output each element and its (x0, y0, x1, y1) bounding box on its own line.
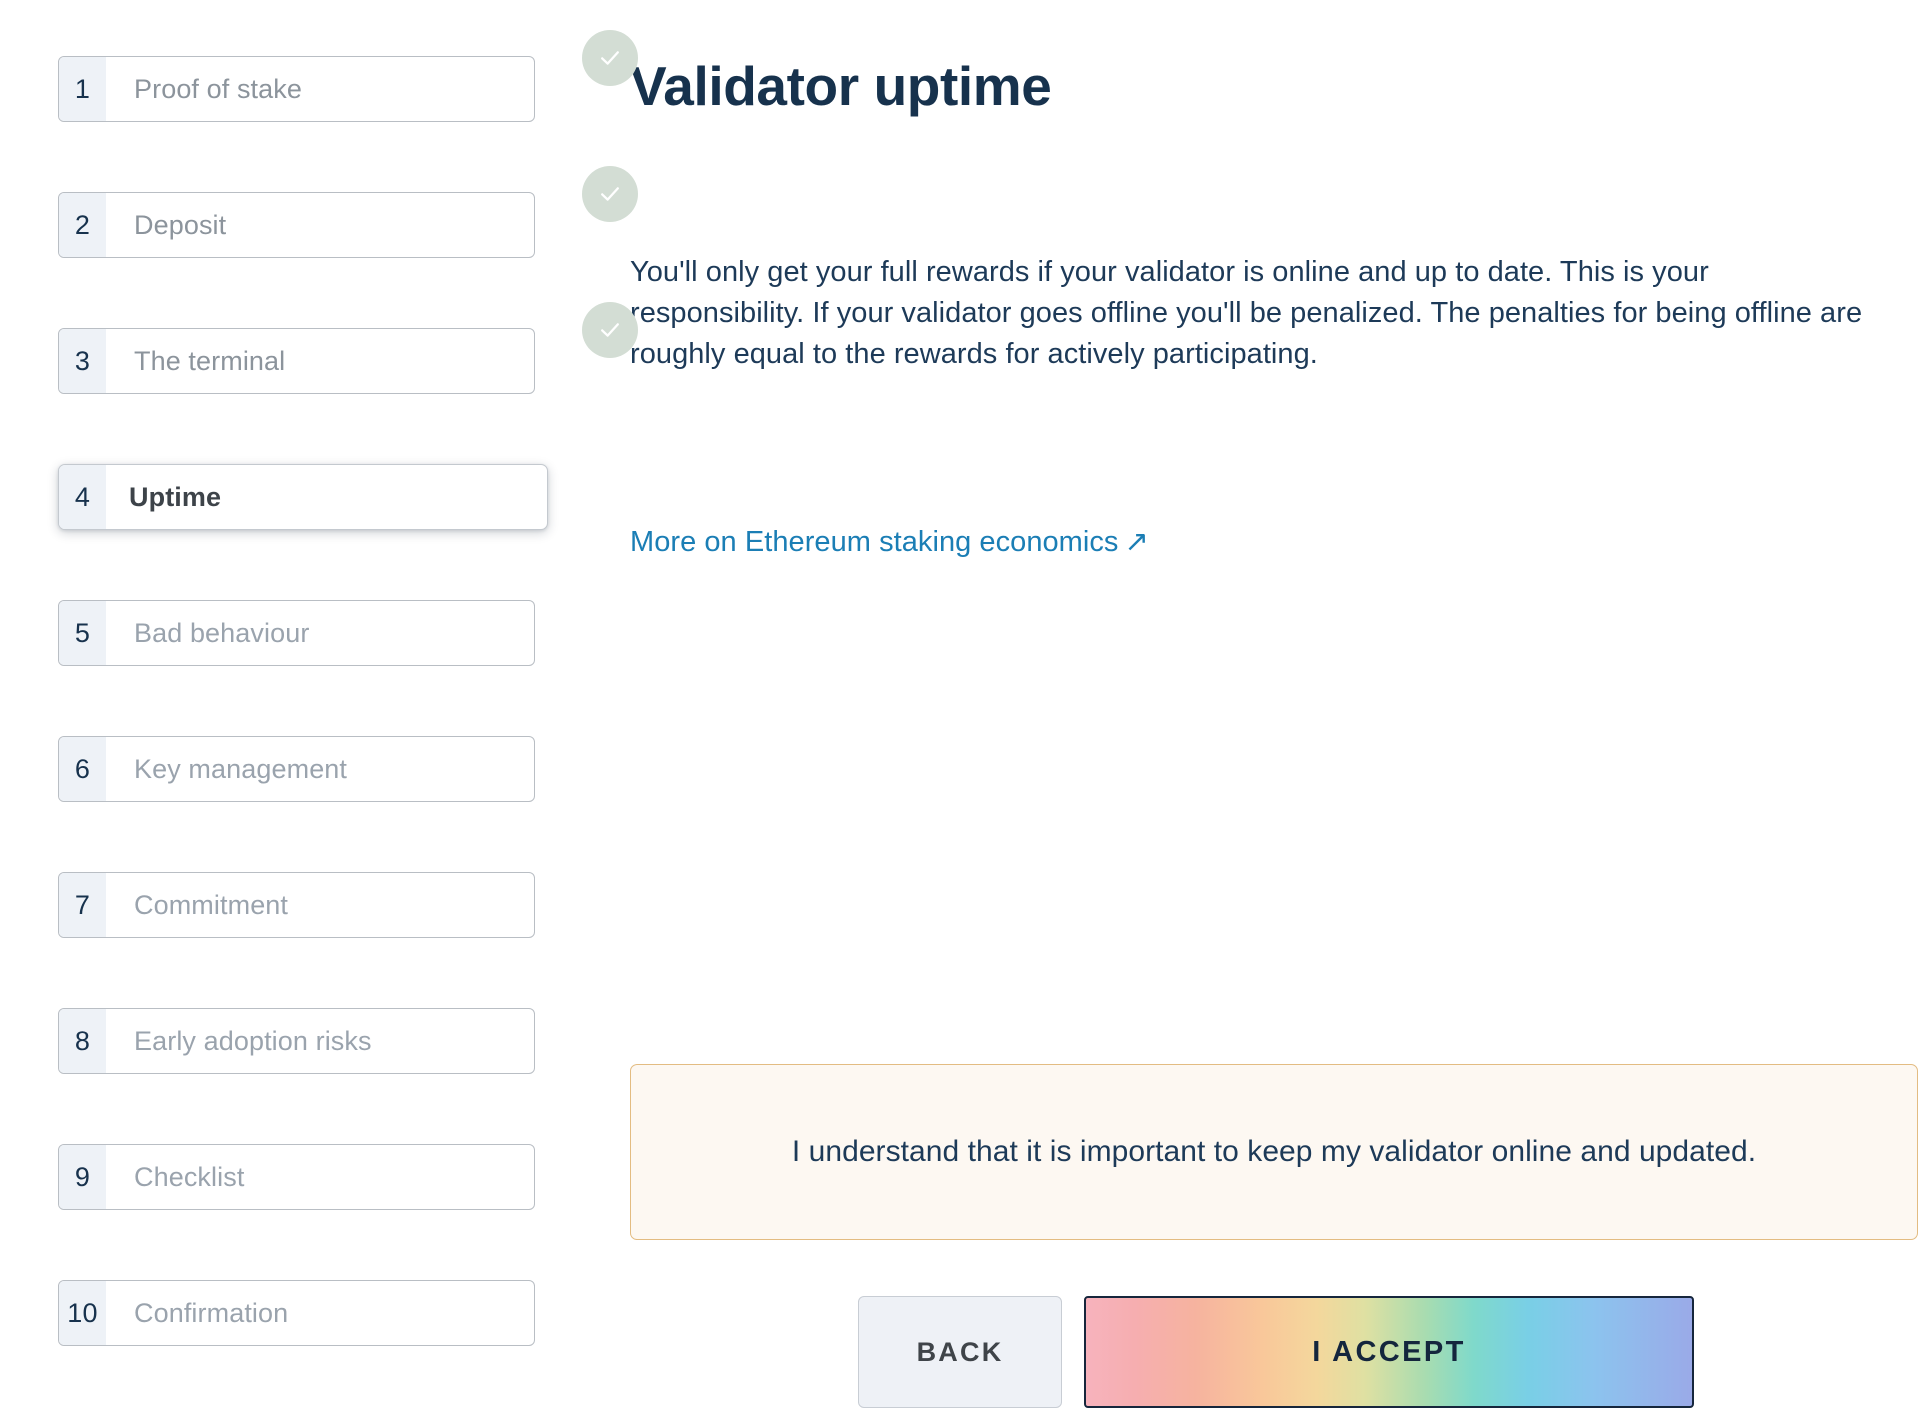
back-button[interactable]: BACK (858, 1296, 1062, 1408)
stepper-item-label: Early adoption risks (106, 1009, 534, 1073)
stepper-item-box: 5Bad behaviour (58, 600, 535, 666)
stepper-item-label: Bad behaviour (106, 601, 534, 665)
stepper-item-box: 1Proof of stake (58, 56, 535, 122)
stepper-item-box: 9Checklist (58, 1144, 535, 1210)
stepper-item-number: 4 (59, 465, 106, 529)
step-complete-check-icon (582, 166, 638, 222)
stepper-item-key-management[interactable]: 6Key management (58, 736, 618, 802)
stepper-item-box: 2Deposit (58, 192, 535, 258)
stepper-item-proof-of-stake[interactable]: 1Proof of stake (58, 56, 618, 122)
stepper-item-early-adoption-risks[interactable]: 8Early adoption risks (58, 1008, 618, 1074)
stepper-item-number: 7 (59, 873, 106, 937)
wizard-page: 1Proof of stake2Deposit3The terminal4Upt… (0, 0, 1932, 1420)
stepper-item-label: Commitment (106, 873, 534, 937)
stepper-item-box: 6Key management (58, 736, 535, 802)
stepper-item-label: Checklist (106, 1145, 534, 1209)
more-link-label: More on Ethereum staking economics (630, 526, 1118, 558)
acknowledgement-box: I understand that it is important to kee… (630, 1064, 1918, 1240)
stepper-item-number: 5 (59, 601, 106, 665)
more-on-staking-economics-link[interactable]: More on Ethereum staking economics↗ (630, 524, 1149, 559)
stepper-item-label: The terminal (106, 329, 534, 393)
action-buttons: BACK I ACCEPT (858, 1296, 1694, 1408)
stepper-item-number: 1 (59, 57, 106, 121)
stepper-item-number: 6 (59, 737, 106, 801)
content-panel: Validator uptime You'll only get your fu… (630, 56, 1885, 118)
body-paragraph: You'll only get your full rewards if you… (630, 252, 1888, 376)
step-complete-check-icon (582, 302, 638, 358)
accept-button[interactable]: I ACCEPT (1084, 1296, 1694, 1408)
stepper-item-label: Uptime (106, 465, 547, 529)
page-title: Validator uptime (630, 56, 1885, 118)
stepper-item-box: 3The terminal (58, 328, 535, 394)
stepper-item-the-terminal[interactable]: 3The terminal (58, 328, 618, 394)
stepper-item-number: 10 (59, 1281, 106, 1345)
stepper-item-commitment[interactable]: 7Commitment (58, 872, 618, 938)
stepper-item-uptime[interactable]: 4Uptime (58, 464, 618, 530)
stepper-item-label: Proof of stake (106, 57, 534, 121)
stepper-item-deposit[interactable]: 2Deposit (58, 192, 618, 258)
stepper-item-box: 10Confirmation (58, 1280, 535, 1346)
stepper-item-number: 2 (59, 193, 106, 257)
stepper-item-label: Deposit (106, 193, 534, 257)
stepper-item-number: 8 (59, 1009, 106, 1073)
stepper-item-label: Key management (106, 737, 534, 801)
stepper-item-bad-behaviour[interactable]: 5Bad behaviour (58, 600, 618, 666)
stepper-item-box: 8Early adoption risks (58, 1008, 535, 1074)
acknowledgement-text: I understand that it is important to kee… (792, 1132, 1756, 1173)
wizard-stepper: 1Proof of stake2Deposit3The terminal4Upt… (58, 56, 618, 1346)
stepper-item-number: 3 (59, 329, 106, 393)
step-complete-check-icon (582, 30, 638, 86)
stepper-item-box: 7Commitment (58, 872, 535, 938)
stepper-item-confirmation[interactable]: 10Confirmation (58, 1280, 618, 1346)
stepper-item-number: 9 (59, 1145, 106, 1209)
stepper-item-box: 4Uptime (58, 464, 548, 530)
stepper-item-label: Confirmation (106, 1281, 534, 1345)
external-link-arrow-icon: ↗ (1124, 524, 1148, 559)
stepper-item-checklist[interactable]: 9Checklist (58, 1144, 618, 1210)
